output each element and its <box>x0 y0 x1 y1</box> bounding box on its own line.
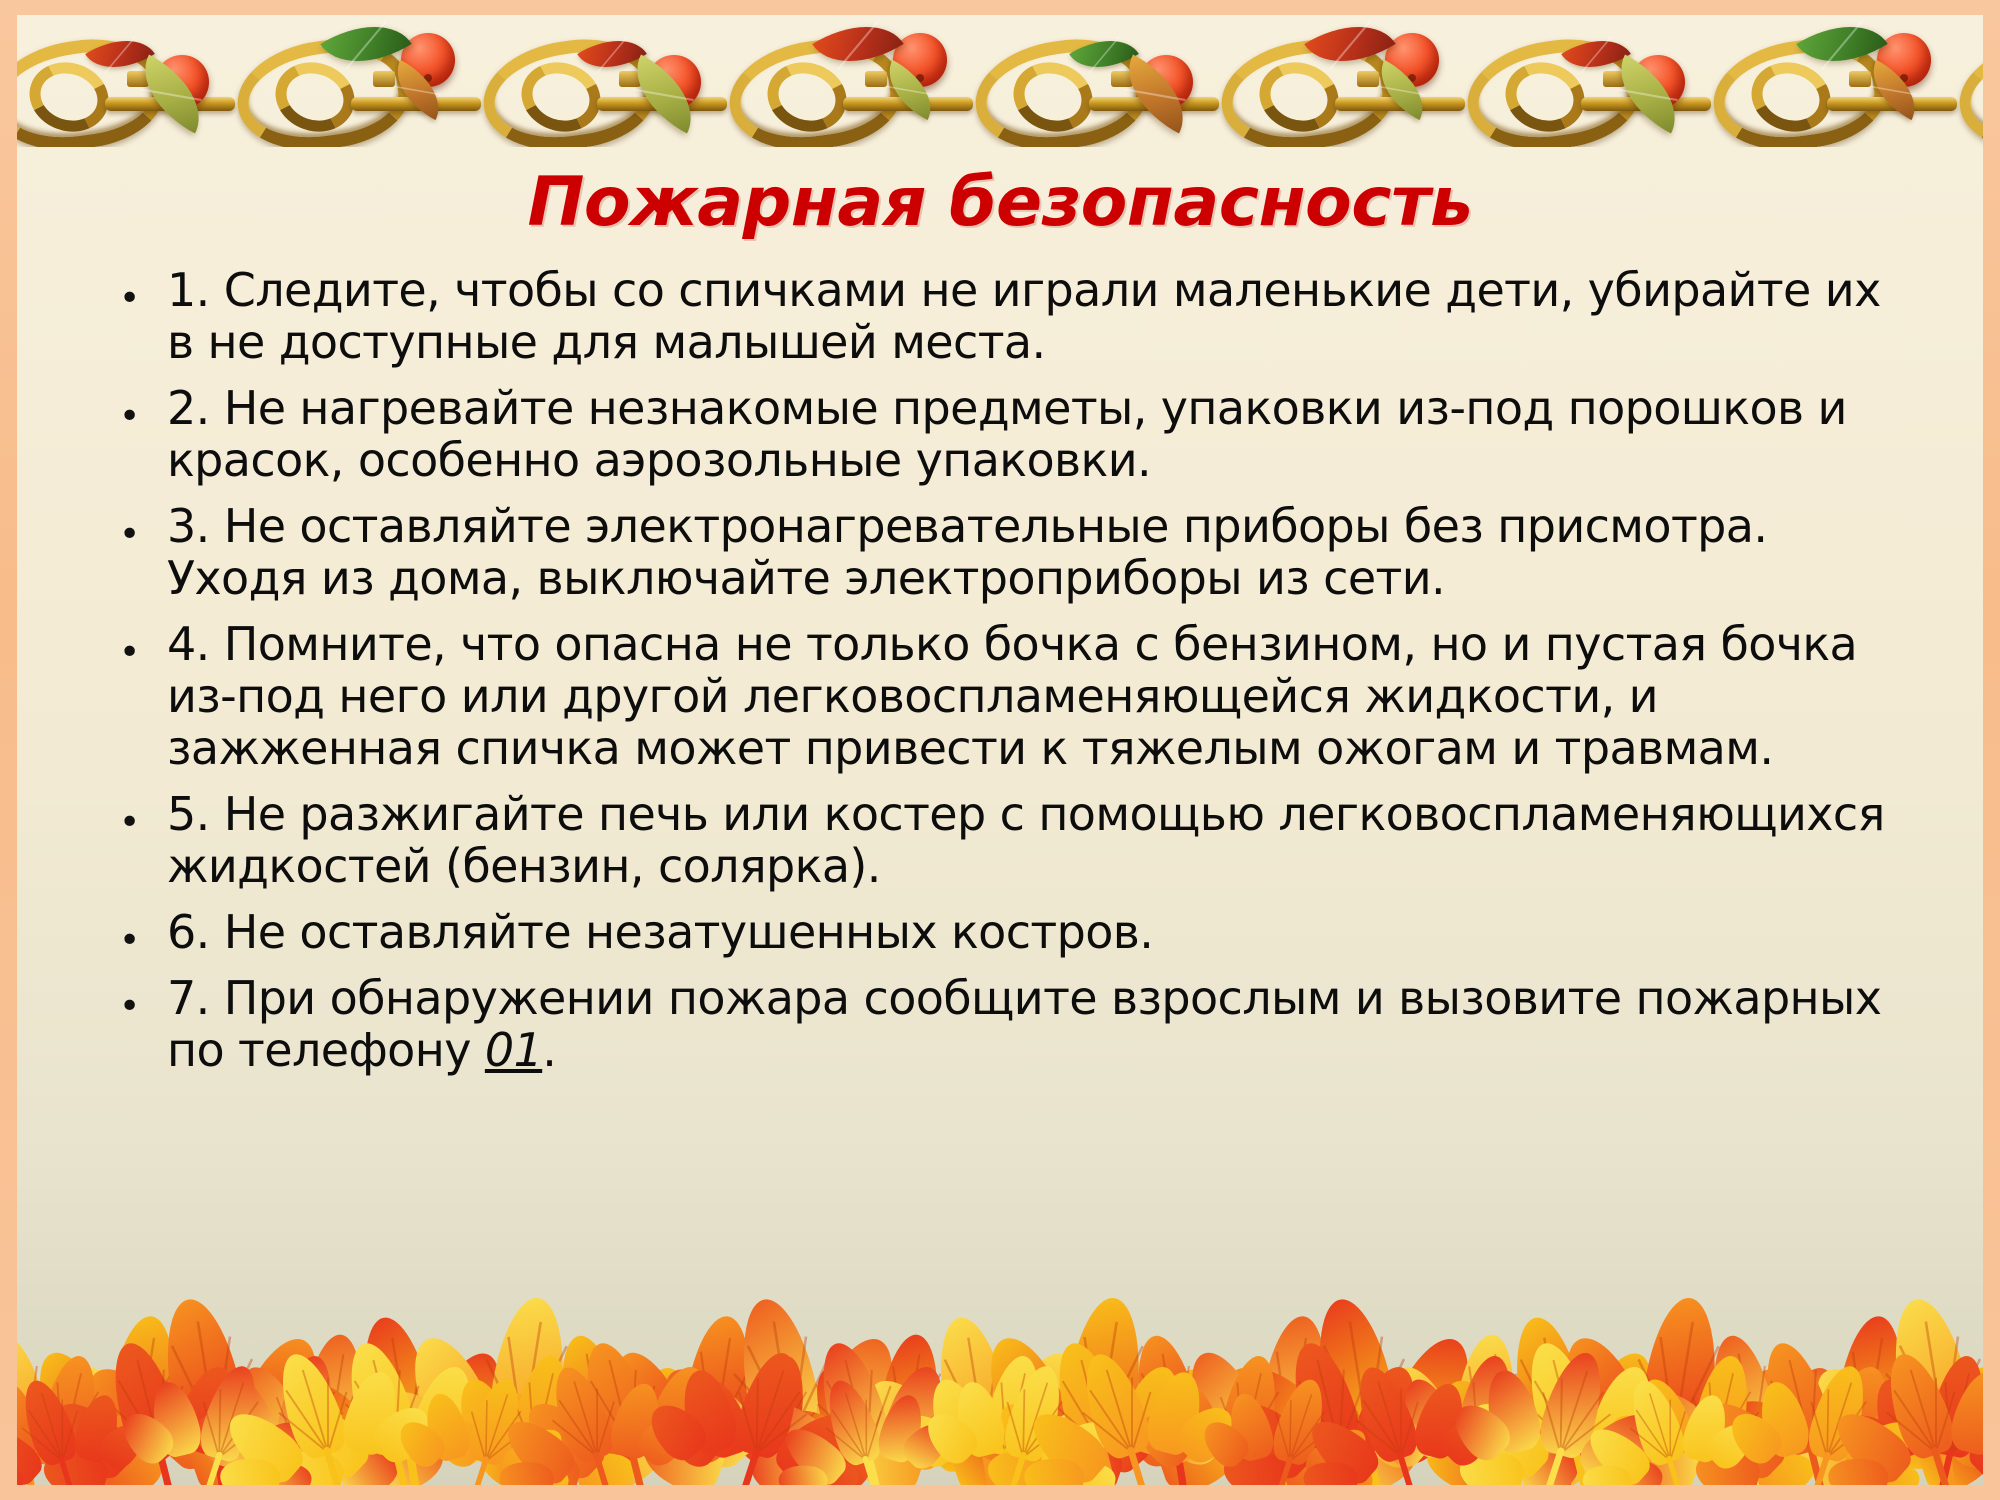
safety-rules-list: • 1. Следите, чтобы со спичками не играл… <box>105 265 1921 1091</box>
bullet-icon: • <box>105 265 167 317</box>
gold-scroll-berries-leaves-border <box>17 15 1983 147</box>
maple-leaf-row <box>17 1255 1983 1485</box>
list-item: • 3. Не оставляйте электронагревательные… <box>105 501 1921 605</box>
list-item: • 6. Не оставляйте незатушенных костров. <box>105 907 1921 959</box>
bullet-icon: • <box>105 619 167 671</box>
page-title: Пожарная безопасность <box>17 163 1983 242</box>
bullet-icon: • <box>105 789 167 841</box>
list-item-text: 2. Не нагревайте незнакомые предметы, уп… <box>167 383 1921 487</box>
slide: Пожарная безопасность • 1. Следите, чтоб… <box>0 0 2000 1500</box>
list-item-text: 5. Не разжигайте печь или костер с помощ… <box>167 789 1921 893</box>
emergency-phone-number: 01 <box>485 1023 542 1077</box>
bullet-icon: • <box>105 383 167 435</box>
list-item: • 4. Помните, что опасна не только бочка… <box>105 619 1921 775</box>
gold-swirl-icon <box>1955 23 1983 135</box>
list-item-text: 4. Помните, что опасна не только бочка с… <box>167 619 1921 775</box>
bullet-icon: • <box>105 501 167 553</box>
list-item-text: 7. При обнаружении пожара сообщите взрос… <box>167 973 1921 1077</box>
emergency-text-suffix: . <box>542 1023 556 1077</box>
list-item: • 2. Не нагревайте незнакомые предметы, … <box>105 383 1921 487</box>
bullet-icon: • <box>105 907 167 959</box>
slide-canvas: Пожарная безопасность • 1. Следите, чтоб… <box>17 15 1983 1485</box>
list-item: • 1. Следите, чтобы со спичками не играл… <box>105 265 1921 369</box>
list-item-emergency: • 7. При обнаружении пожара сообщите взр… <box>105 973 1921 1077</box>
list-item-text: 1. Следите, чтобы со спичками не играли … <box>167 265 1921 369</box>
emergency-text-prefix: 7. При обнаружении пожара сообщите взрос… <box>167 971 1881 1077</box>
list-item-text: 6. Не оставляйте незатушенных костров. <box>167 907 1921 959</box>
list-item: • 5. Не разжигайте печь или костер с пом… <box>105 789 1921 893</box>
bullet-icon: • <box>105 973 167 1025</box>
list-item-text: 3. Не оставляйте электронагревательные п… <box>167 501 1921 605</box>
gold-scroll-row <box>17 15 1983 147</box>
autumn-maple-leaves-border <box>17 1255 1983 1485</box>
